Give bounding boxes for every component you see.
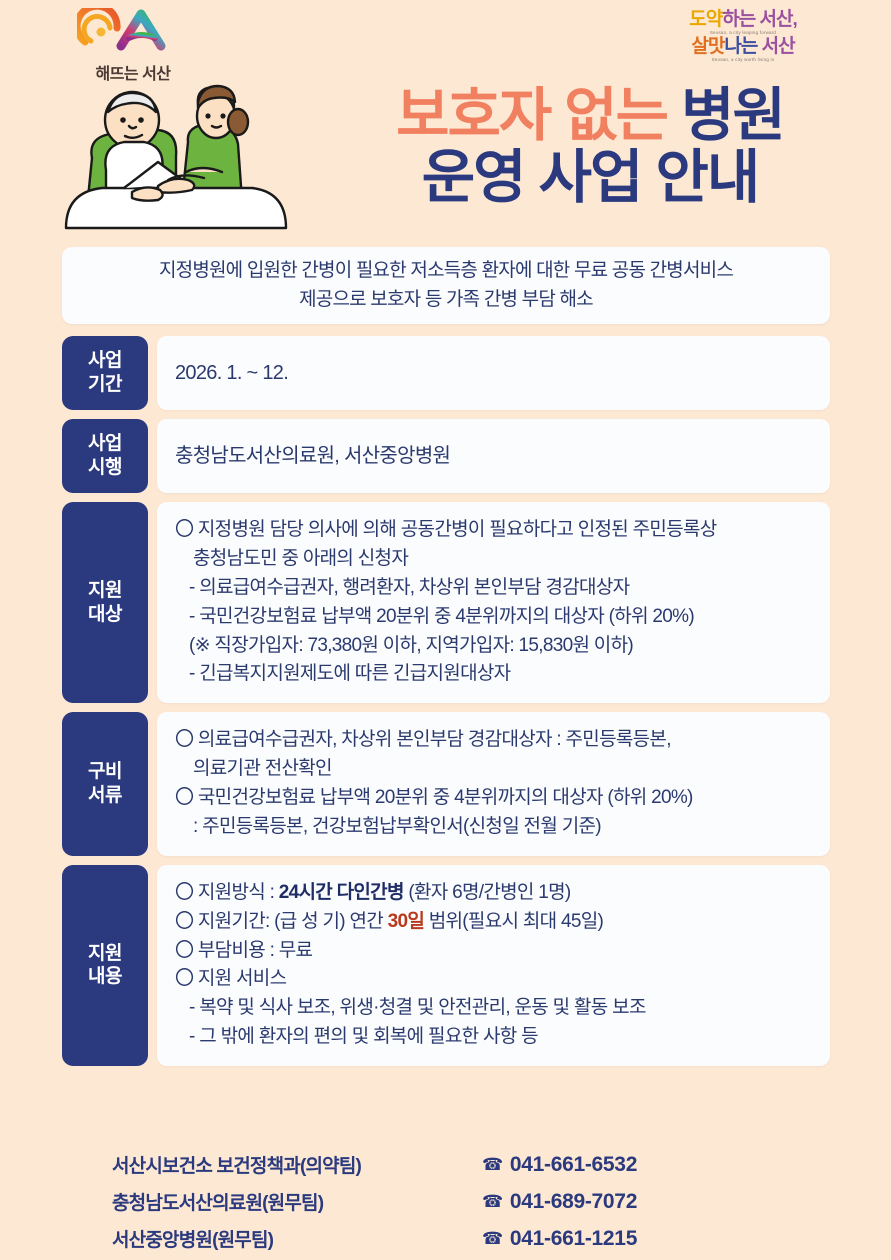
section-tab-line2: 서류 <box>88 784 122 808</box>
slogan-l1-c: 서산, <box>759 9 796 30</box>
contact-phone[interactable]: ☎041-661-6532 <box>482 1153 637 1177</box>
section-body: 〇 지정병원 담당 의사에 의해 공동간병이 필요하다고 인정된 주민등록상충청… <box>157 502 830 703</box>
section-body-line: : 주민등록등본, 건강보험납부확인서(신청일 전월 기준) <box>175 813 812 842</box>
phone-icon: ☎ <box>482 1155 503 1175</box>
elderly-patient-and-caregiver-illustration <box>62 80 294 232</box>
page-title-navy-part: 병원 <box>667 83 784 148</box>
section-body-line: - 복약 및 식사 보조, 위생·청결 및 안전관리, 운동 및 활동 보조 <box>175 994 812 1023</box>
page-title-line1: 보호자 없는 병원 <box>340 88 840 144</box>
section-body-line: - 그 밖에 환자의 편의 및 회복에 필요한 사항 등 <box>175 1023 812 1052</box>
contact-row: 서산시보건소 보건정책과(의약팀)☎041-661-6532 <box>62 1146 830 1183</box>
line-text: 〇 지원기간: (급 성 기) 연간 <box>175 911 388 932</box>
section-body-line: 2026. 1. ~ 12. <box>175 358 812 388</box>
section-row: 지원대상〇 지정병원 담당 의사에 의해 공동간병이 필요하다고 인정된 주민등… <box>62 502 830 703</box>
line-red-highlight: 30일 <box>388 911 425 932</box>
section-tab-line2: 시행 <box>88 456 122 480</box>
section-tab-3: 구비서류 <box>62 712 148 856</box>
line-text: - 의료급여수급권자, 행려환자, 차상위 본인부담 경감대상자 <box>189 577 629 598</box>
line-text: 〇 지정병원 담당 의사에 의해 공동간병이 필요하다고 인정된 주민등록상 <box>175 519 717 540</box>
section-tab-line2: 대상 <box>88 603 122 627</box>
city-slogan-line1: 도약하는 서산, <box>653 10 833 31</box>
section-row: 사업시행충청남도서산의료원, 서산중앙병원 <box>62 419 830 493</box>
slogan-l1-a: 도약 <box>689 9 722 30</box>
city-slogan-line2-sub: Seosan, a city worth living in <box>653 58 833 63</box>
line-text: - 국민건강보험료 납부액 20분위 중 4분위까지의 대상자 (하위 20%) <box>189 606 694 627</box>
line-tail-text: (환자 6명/간병인 1명) <box>404 882 571 903</box>
section-tab-line1: 구비 <box>88 760 122 784</box>
seosan-sunrise-logo-icon <box>77 8 189 56</box>
section-body-line: 충청남도서산의료원, 서산중앙병원 <box>175 441 812 471</box>
slogan-l1-b: 하는 <box>722 9 759 30</box>
section-tab-line1: 사업 <box>88 349 122 373</box>
slogan-l2-a: 살맛 <box>691 36 724 57</box>
city-slogan: 도약하는 서산, Seosan, a city leaping forward … <box>653 10 833 63</box>
section-body-line: 〇 의료급여수급권자, 차상위 본인부담 경감대상자 : 주민등록등본, <box>175 726 812 755</box>
contact-phone[interactable]: ☎041-661-1215 <box>482 1227 637 1251</box>
summary-box: 지정병원에 입원한 간병이 필요한 저소득층 환자에 대한 무료 공동 간병서비… <box>62 247 830 324</box>
section-body-line: 〇 지원방식 : 24시간 다인간병 (환자 6명/간병인 1명) <box>175 879 812 908</box>
contact-phone[interactable]: ☎041-689-7072 <box>482 1190 637 1214</box>
line-text: 2026. 1. ~ 12. <box>175 362 288 384</box>
section-row: 사업기간2026. 1. ~ 12. <box>62 336 830 410</box>
section-tab-0: 사업기간 <box>62 336 148 410</box>
line-text: 〇 지원 서비스 <box>175 968 286 989</box>
contact-organization: 서산중앙병원(원무팀) <box>62 1225 482 1252</box>
line-text: 〇 국민건강보험료 납부액 20분위 중 4분위까지의 대상자 (하위 20%) <box>175 787 693 808</box>
contact-organization: 서산시보건소 보건정책과(의약팀) <box>62 1151 482 1178</box>
contact-row: 충청남도서산의료원(원무팀)☎041-689-7072 <box>62 1183 830 1220</box>
page-title: 보호자 없는 병원 운영 사업 안내 <box>340 88 840 205</box>
phone-icon: ☎ <box>482 1229 503 1249</box>
page-title-coral-part: 보호자 없는 <box>396 83 667 148</box>
slogan-l2-c: 서산 <box>762 36 795 57</box>
contact-organization: 충청남도서산의료원(원무팀) <box>62 1188 482 1215</box>
line-bold-highlight: 24시간 다인간병 <box>279 882 404 903</box>
section-tab-line1: 지원 <box>88 579 122 603</box>
line-text: - 그 밖에 환자의 편의 및 회복에 필요한 사항 등 <box>189 1026 538 1047</box>
section-body: 충청남도서산의료원, 서산중앙병원 <box>157 419 830 493</box>
contact-footer: 서산시보건소 보건정책과(의약팀)☎041-661-6532충청남도서산의료원(… <box>62 1146 830 1257</box>
poster-header: 해뜨는 서산 도약하는 서산, Seosan, a city leaping f… <box>0 0 891 236</box>
city-slogan-line1-sub: Seosan, a city leaping forward <box>653 31 833 36</box>
phone-icon: ☎ <box>482 1192 503 1212</box>
summary-line-2: 제공으로 보호자 등 가족 간병 부담 해소 <box>299 286 593 315</box>
section-body-line: 〇 지원 서비스 <box>175 965 812 994</box>
line-text: : 주민등록등본, 건강보험납부확인서(신청일 전월 기준) <box>193 816 601 837</box>
section-body-line: - 의료급여수급권자, 행려환자, 차상위 본인부담 경감대상자 <box>175 574 812 603</box>
section-tab-line1: 사업 <box>88 432 122 456</box>
contact-row: 서산중앙병원(원무팀)☎041-661-1215 <box>62 1220 830 1257</box>
section-tab-2: 지원대상 <box>62 502 148 703</box>
section-body: 〇 지원방식 : 24시간 다인간병 (환자 6명/간병인 1명)〇 지원기간:… <box>157 865 830 1066</box>
section-body-line: 〇 지정병원 담당 의사에 의해 공동간병이 필요하다고 인정된 주민등록상 <box>175 516 812 545</box>
section-tab-4: 지원내용 <box>62 865 148 1066</box>
section-tab-line1: 지원 <box>88 942 122 966</box>
page-title-line2: 운영 사업 안내 <box>340 150 840 206</box>
line-tail-text: 범위(필요시 최대 45일) <box>424 911 603 932</box>
contact-phone-number: 041-689-7072 <box>510 1190 637 1214</box>
slogan-l2-b: 나는 <box>724 36 761 57</box>
city-slogan-line2: 살맛나는 서산 <box>653 37 833 58</box>
line-text: 충청남도민 중 아래의 신청자 <box>193 548 408 569</box>
section-rows: 사업기간2026. 1. ~ 12.사업시행충청남도서산의료원, 서산중앙병원지… <box>62 336 830 1075</box>
brand-logo: 해뜨는 서산 <box>68 8 198 84</box>
section-body: 2026. 1. ~ 12. <box>157 336 830 410</box>
line-text: 충청남도서산의료원, 서산중앙병원 <box>175 445 450 467</box>
section-tab-1: 사업시행 <box>62 419 148 493</box>
section-body-line: - 국민건강보험료 납부액 20분위 중 4분위까지의 대상자 (하위 20%) <box>175 603 812 632</box>
section-body-line: (※ 직장가입자: 73,380원 이하, 지역가입자: 15,830원 이하) <box>175 632 812 661</box>
contact-phone-number: 041-661-1215 <box>510 1227 637 1251</box>
section-tab-line2: 내용 <box>88 965 122 989</box>
section-row: 지원내용〇 지원방식 : 24시간 다인간병 (환자 6명/간병인 1명)〇 지… <box>62 865 830 1066</box>
line-text: 〇 지원방식 : <box>175 882 279 903</box>
line-text: - 복약 및 식사 보조, 위생·청결 및 안전관리, 운동 및 활동 보조 <box>189 997 646 1018</box>
line-text: 〇 부담비용 : 무료 <box>175 940 312 961</box>
contact-phone-number: 041-661-6532 <box>510 1153 637 1177</box>
section-body-line: - 긴급복지지원제도에 따른 긴급지원대상자 <box>175 660 812 689</box>
section-body-line: 〇 부담비용 : 무료 <box>175 937 812 966</box>
section-body-line: 〇 국민건강보험료 납부액 20분위 중 4분위까지의 대상자 (하위 20%) <box>175 784 812 813</box>
section-body-line: 충청남도민 중 아래의 신청자 <box>175 545 812 574</box>
section-body-line: 〇 지원기간: (급 성 기) 연간 30일 범위(필요시 최대 45일) <box>175 908 812 937</box>
summary-line-1: 지정병원에 입원한 간병이 필요한 저소득층 환자에 대한 무료 공동 간병서비… <box>159 257 733 286</box>
line-text: (※ 직장가입자: 73,380원 이하, 지역가입자: 15,830원 이하) <box>189 635 633 656</box>
line-text: 〇 의료급여수급권자, 차상위 본인부담 경감대상자 : 주민등록등본, <box>175 729 671 750</box>
section-body-line: 의료기관 전산확인 <box>175 755 812 784</box>
section-body: 〇 의료급여수급권자, 차상위 본인부담 경감대상자 : 주민등록등본,의료기관… <box>157 712 830 856</box>
line-text: 의료기관 전산확인 <box>193 758 332 779</box>
line-text: - 긴급복지지원제도에 따른 긴급지원대상자 <box>189 663 510 684</box>
section-tab-line2: 기간 <box>88 373 122 397</box>
section-row: 구비서류〇 의료급여수급권자, 차상위 본인부담 경감대상자 : 주민등록등본,… <box>62 712 830 856</box>
